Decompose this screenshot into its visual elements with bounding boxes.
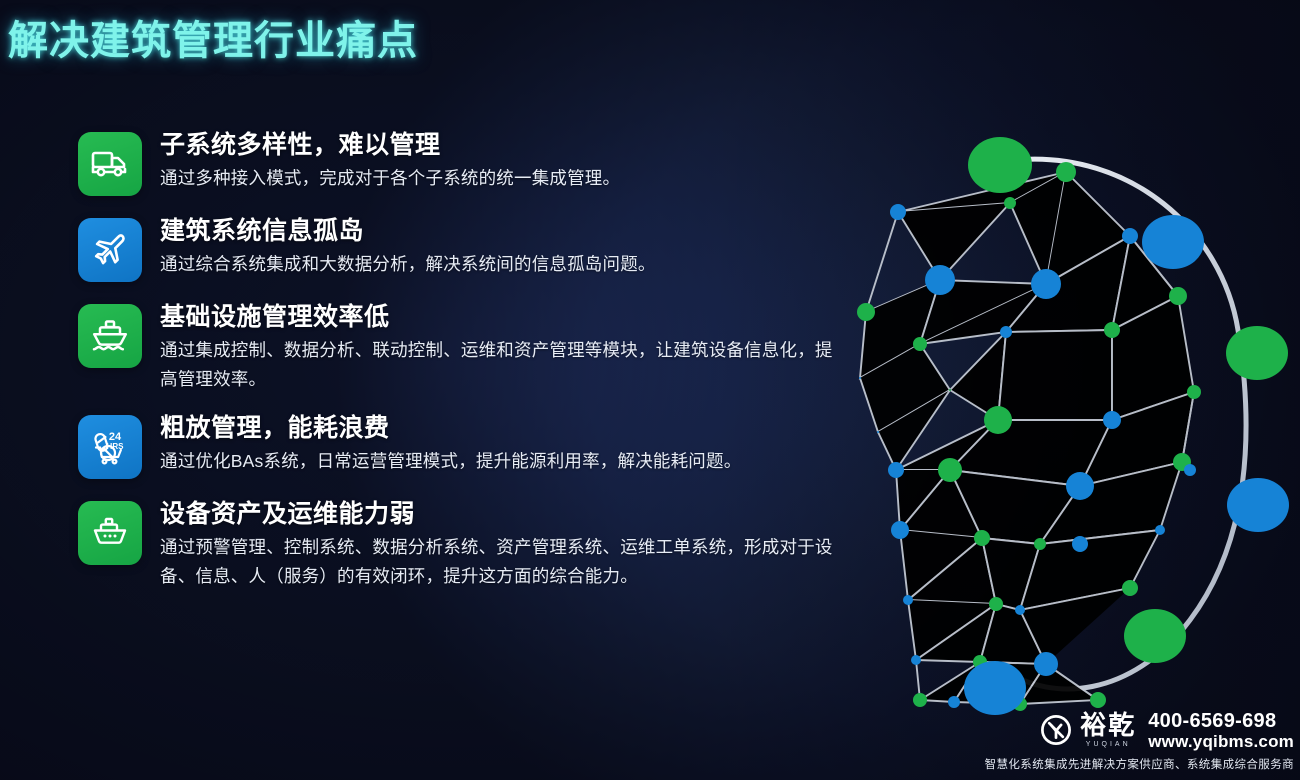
list-item[interactable]: 设备资产及运维能力弱 通过预警管理、控制系统、数据分析系统、资产管理系统、运维工… — [78, 497, 878, 590]
brand-name-pinyin: YUQIAN — [1080, 741, 1136, 748]
list-item-desc: 通过预警管理、控制系统、数据分析系统、资产管理系统、运维工单系统，形成对于设备、… — [160, 533, 850, 590]
cruise-ship-icon — [78, 501, 142, 565]
brand-footer: 裕乾 YUQIAN 400-6569-698 www.yqibms.com 智慧… — [985, 710, 1294, 772]
truck-icon — [78, 132, 142, 196]
brand-pinyin-text: YUQIAN — [1082, 741, 1135, 748]
list-item[interactable]: 子系统多样性，难以管理 通过多种接入模式，完成对于各个子系统的统一集成管理。 — [78, 128, 878, 196]
contact-website[interactable]: www.yqibms.com — [1148, 732, 1294, 751]
list-item-title: 基础设施管理效率低 — [160, 302, 850, 333]
page-title: 解决建筑管理行业痛点 — [8, 8, 418, 66]
yuqian-logo-mark — [1039, 713, 1073, 747]
network-mesh-illustration — [830, 0, 1300, 780]
list-item[interactable]: 建筑系统信息孤岛 通过综合系统集成和大数据分析，解决系统间的信息孤岛问题。 — [78, 214, 878, 282]
list-item-title: 粗放管理，能耗浪费 — [160, 413, 741, 444]
list-item[interactable]: 基础设施管理效率低 通过集成控制、数据分析、联动控制、运维和资产管理等模块，让建… — [78, 300, 878, 393]
brand-name-cn: 裕乾 — [1080, 712, 1136, 738]
contact-phone[interactable]: 400-6569-698 — [1148, 710, 1294, 732]
cart-24hrs-icon: 24 HRS — [78, 415, 142, 479]
list-item-desc: 通过集成控制、数据分析、联动控制、运维和资产管理等模块，让建筑设备信息化，提高管… — [160, 336, 850, 393]
list-item-desc: 通过优化BAs系统，日常运营管理模式，提升能源利用率，解决能耗问题。 — [160, 447, 741, 475]
pain-point-list: 子系统多样性，难以管理 通过多种接入模式，完成对于各个子系统的统一集成管理。 建… — [78, 128, 878, 608]
list-item-desc: 通过综合系统集成和大数据分析，解决系统间的信息孤岛问题。 — [160, 250, 656, 278]
airplane-icon — [78, 218, 142, 282]
brand-tagline: 智慧化系统集成先进解决方案供应商、系统集成综合服务商 — [985, 756, 1294, 772]
list-item-title: 子系统多样性，难以管理 — [160, 130, 620, 161]
ship-icon — [78, 304, 142, 368]
list-item-title: 设备资产及运维能力弱 — [160, 499, 850, 530]
slide-canvas: 解决建筑管理行业痛点 — [0, 0, 1300, 780]
list-item[interactable]: 24 HRS 粗放管理，能耗浪费 通过优化BAs系统，日常运营管理模式，提升能源… — [78, 411, 878, 479]
list-item-desc: 通过多种接入模式，完成对于各个子系统的统一集成管理。 — [160, 164, 620, 192]
list-item-title: 建筑系统信息孤岛 — [160, 216, 656, 247]
